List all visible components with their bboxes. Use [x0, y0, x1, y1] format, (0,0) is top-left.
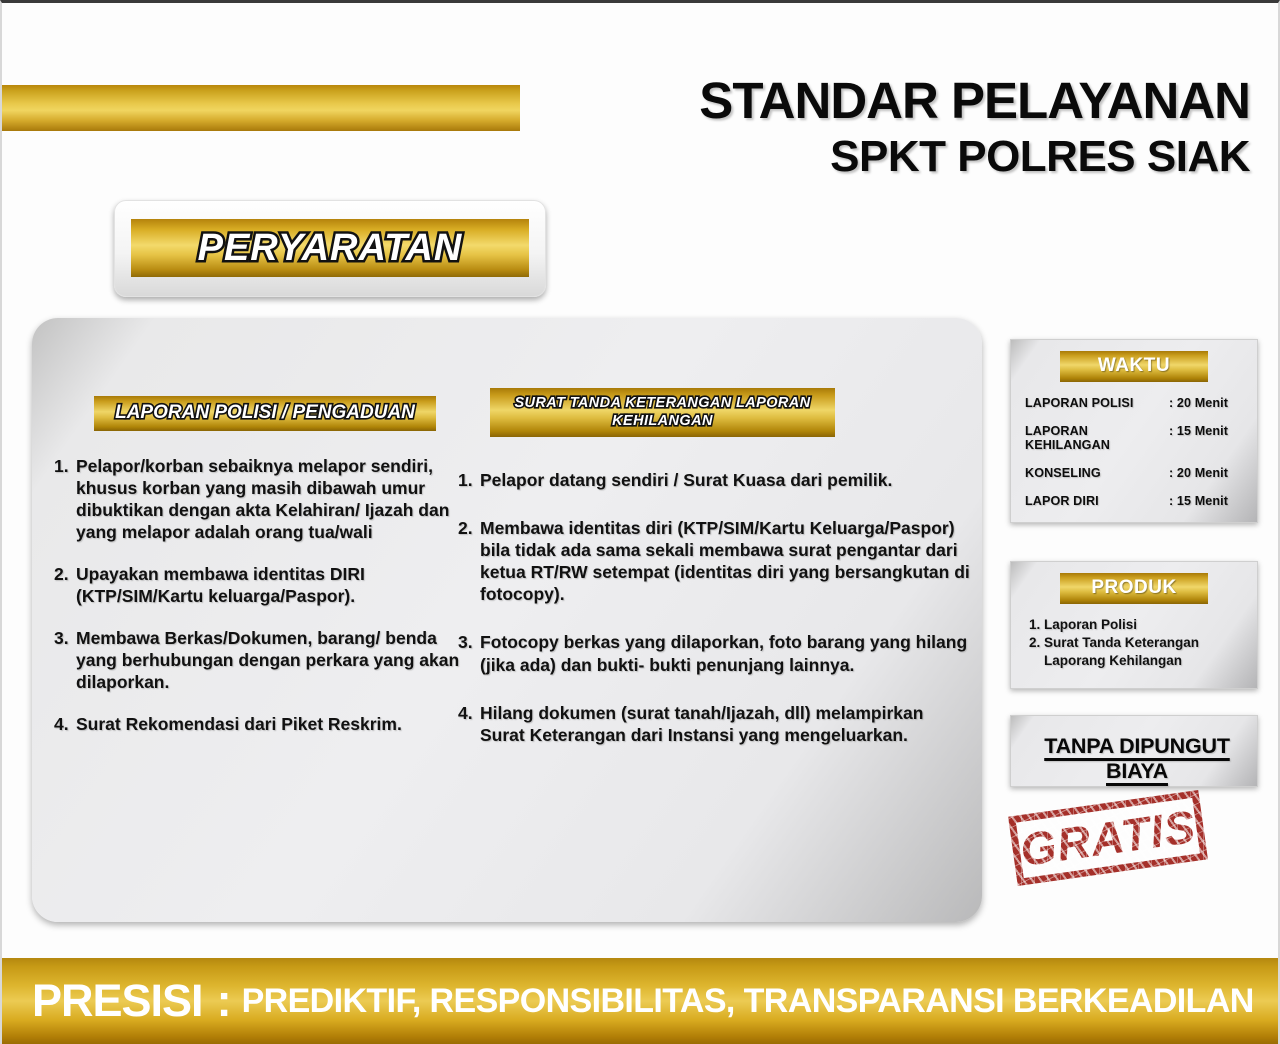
peryaratan-badge: PERYARATAN	[114, 200, 546, 297]
page-subtitle: SPKT POLRES SIAK	[490, 132, 1250, 181]
waktu-row-label: LAPORAN POLISI	[1025, 396, 1169, 410]
section-heading-laporan-polisi: LAPORAN POLISI / PENGADUAN	[94, 396, 436, 431]
peryaratan-badge-label: PERYARATAN	[131, 219, 529, 277]
requirements-panel: LAPORAN POLISI / PENGADUAN 1. Pelapor/ko…	[32, 318, 982, 922]
list-surat-tanda-keterangan: 1. Pelapor datang sendiri / Surat Kuasa …	[452, 469, 972, 745]
presisi-footer-banner: PRESISI : PREDIKTIF, RESPONSIBILITAS, TR…	[2, 958, 1278, 1044]
produk-panel-heading: PRODUK	[1060, 573, 1208, 604]
list-item-number: 2.	[54, 563, 76, 585]
waktu-row-value: : 20 Menit	[1169, 466, 1228, 480]
list-item-text: Upayakan membawa identitas DIRI (KTP/SIM…	[76, 563, 464, 607]
list-item-number: 3.	[458, 631, 480, 653]
waktu-panel-heading: WAKTU	[1060, 351, 1208, 382]
list-item-number: 2.	[1029, 634, 1044, 652]
list-item: 2. Upayakan membawa identitas DIRI (KTP/…	[44, 563, 464, 607]
table-row: KONSELING : 20 Menit	[1025, 466, 1257, 480]
waktu-rows: LAPORAN POLISI : 20 Menit LAPORAN KEHILA…	[1025, 396, 1257, 508]
list-item-text: Pelapor datang sendiri / Surat Kuasa dar…	[480, 469, 972, 491]
tanpa-dipungut-biaya-label: TANPA DIPUNGUT BIAYA	[1017, 734, 1257, 784]
column-laporan-polisi: LAPORAN POLISI / PENGADUAN 1. Pelapor/ko…	[44, 396, 464, 755]
list-item: 1. Laporan Polisi	[1029, 616, 1257, 634]
table-row: LAPOR DIRI : 15 Menit	[1025, 494, 1257, 508]
waktu-panel: WAKTU LAPORAN POLISI : 20 Menit LAPORAN …	[1010, 339, 1258, 523]
page-title: STANDAR PELAYANAN	[490, 75, 1250, 126]
list-item-text: Fotocopy berkas yang dilaporkan, foto ba…	[480, 631, 972, 675]
list-item-text: Pelapor/korban sebaiknya melapor sendiri…	[76, 455, 464, 543]
produk-panel: PRODUK 1. Laporan Polisi 2. Surat Tanda …	[1010, 561, 1258, 689]
waktu-row-label: LAPOR DIRI	[1025, 494, 1169, 508]
list-item: 4. Surat Rekomendasi dari Piket Reskrim.	[44, 713, 464, 735]
list-item-number: 1.	[458, 469, 480, 491]
poster-page: STANDAR PELAYANAN SPKT POLRES SIAK PERYA…	[0, 0, 1280, 1044]
list-item: 3. Membawa Berkas/Dokumen, barang/ benda…	[44, 627, 464, 693]
list-item: 2. Membawa identitas diri (KTP/SIM/Kartu…	[452, 517, 972, 605]
peryaratan-badge-fill: PERYARATAN	[131, 219, 529, 277]
gratis-stamp-label: GRATIS	[1017, 799, 1199, 877]
list-item: 3. Fotocopy berkas yang dilaporkan, foto…	[452, 631, 972, 675]
presisi-tagline: PREDIKTIF, RESPONSIBILITAS, TRANSPARANSI…	[242, 982, 1254, 1021]
top-gold-accent-bar	[2, 85, 520, 131]
list-item: 4. Hilang dokumen (surat tanah/Ijazah, d…	[452, 702, 972, 746]
waktu-row-label: KONSELING	[1025, 466, 1169, 480]
biaya-panel: TANPA DIPUNGUT BIAYA	[1010, 715, 1258, 787]
list-item-text: Surat Tanda Keterangan	[1044, 634, 1199, 652]
waktu-row-value: : 15 Menit	[1169, 494, 1228, 508]
list-item-continuation: Laporang Kehilangan	[1044, 652, 1257, 670]
list-item-number: 3.	[54, 627, 76, 649]
poster-title-block: STANDAR PELAYANAN SPKT POLRES SIAK	[490, 75, 1250, 181]
list-item-text: Membawa identitas diri (KTP/SIM/Kartu Ke…	[480, 517, 972, 605]
list-item-text: Hilang dokumen (surat tanah/Ijazah, dll)…	[480, 702, 972, 746]
list-item-text: Surat Rekomendasi dari Piket Reskrim.	[76, 713, 464, 735]
table-row: LAPORAN POLISI : 20 Menit	[1025, 396, 1257, 410]
column-surat-tanda-keterangan: SURAT TANDA KETERANGAN LAPORAN KEHILANGA…	[452, 388, 972, 772]
list-item-number: 2.	[458, 517, 480, 539]
list-item: 2. Surat Tanda Keterangan	[1029, 634, 1257, 652]
list-laporan-polisi: 1. Pelapor/korban sebaiknya melapor send…	[44, 455, 464, 735]
list-item-number: 1.	[1029, 616, 1044, 634]
gratis-stamp: GRATIS	[1008, 790, 1208, 886]
section-heading-surat-tanda-keterangan: SURAT TANDA KETERANGAN LAPORAN KEHILANGA…	[490, 388, 835, 437]
list-item: 1. Pelapor/korban sebaiknya melapor send…	[44, 455, 464, 543]
list-item-number: 1.	[54, 455, 76, 477]
presisi-colon: :	[217, 975, 232, 1027]
waktu-row-label: LAPORAN KEHILANGAN	[1025, 424, 1169, 452]
table-row: LAPORAN KEHILANGAN : 15 Menit	[1025, 424, 1257, 452]
list-item-text: Membawa Berkas/Dokumen, barang/ benda ya…	[76, 627, 464, 693]
waktu-row-value: : 20 Menit	[1169, 396, 1228, 410]
list-item: 1. Pelapor datang sendiri / Surat Kuasa …	[452, 469, 972, 491]
waktu-row-value: : 15 Menit	[1169, 424, 1228, 452]
list-item-number: 4.	[54, 713, 76, 735]
list-item-number: 4.	[458, 702, 480, 724]
produk-list: 1. Laporan Polisi 2. Surat Tanda Keteran…	[1029, 616, 1257, 670]
list-item-text: Laporan Polisi	[1044, 616, 1137, 634]
presisi-word: PRESISI	[32, 975, 203, 1027]
